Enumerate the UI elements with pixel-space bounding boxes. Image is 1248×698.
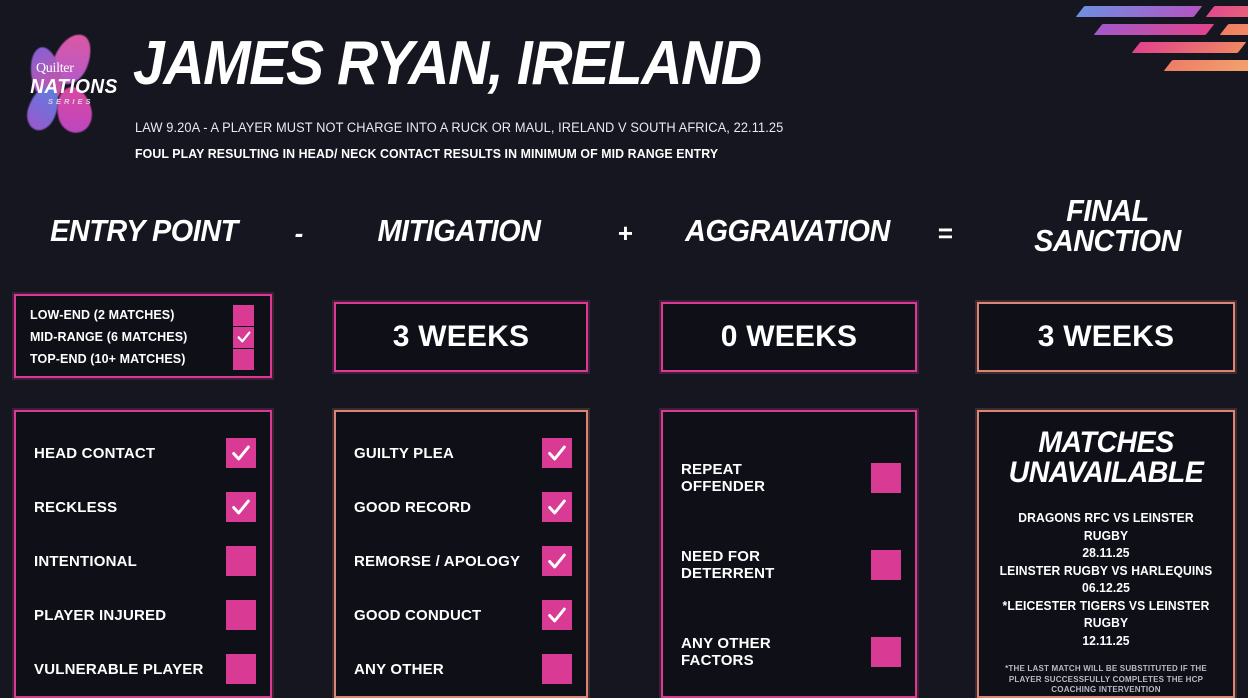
mitigation-factor-row-good-record[interactable]: GOOD RECORD — [354, 480, 572, 534]
final-sanction-weeks-value: 3 WEEKS — [979, 304, 1233, 370]
stripe-7 — [1132, 42, 1247, 53]
quilter-nations-series-logo: Quilter NATIONS SERIES — [25, 33, 107, 133]
entry-factor-row-player-injured[interactable]: PLAYER INJURED — [34, 588, 256, 642]
mitigation-factor-label-guilty-plea: GUILTY PLEA — [354, 445, 454, 462]
match-date: 06.12.25 — [996, 580, 1215, 598]
check-icon — [230, 496, 252, 518]
aggravation-weeks-panel: 0 WEEKS — [661, 302, 917, 372]
mitigation-factors-panel: GUILTY PLEA GOOD RECORD REMORSE / APOLOG… — [334, 410, 588, 698]
entry-factor-label-reckless: RECKLESS — [34, 499, 117, 516]
aggravation-weeks-value: 0 WEEKS — [663, 304, 915, 370]
unavailable-matches-list: DRAGONS RFC VS LEINSTER RUGBY 28.11.25 L… — [993, 510, 1219, 650]
entry-level-label-low: LOW-END (2 MATCHES) — [30, 308, 174, 322]
match-line: DRAGONS RFC VS LEINSTER RUGBY — [996, 510, 1215, 545]
mitigation-factor-checkbox-remorse-apology[interactable] — [542, 546, 572, 576]
entry-point-factors-panel: HEAD CONTACT RECKLESS INTENTIONAL PLAYER… — [14, 410, 272, 698]
aggravation-factors-panel: REPEAT OFFENDER NEED FOR DETERRENT ANY O… — [661, 410, 917, 698]
match-line: LEINSTER RUGBY VS HARLEQUINS — [996, 563, 1215, 581]
operator-equals: = — [920, 218, 970, 249]
stripe-3 — [1076, 6, 1203, 17]
aggravation-factor-checkbox-repeat-offender[interactable] — [871, 463, 901, 493]
match-date: 12.11.25 — [996, 633, 1215, 651]
mitigation-factor-row-any-other[interactable]: ANY OTHER — [354, 642, 572, 696]
aggravation-factor-label-repeat-offender: REPEAT OFFENDER — [681, 461, 765, 495]
mitigation-factor-row-remorse-apology[interactable]: REMORSE / APOLOGY — [354, 534, 572, 588]
aggravation-factor-label-any-other-factors: ANY OTHER FACTORS — [681, 635, 771, 669]
substitution-footnote: *THE LAST MATCH WILL BE SUBSTITUTED IF T… — [993, 664, 1219, 696]
check-icon — [230, 442, 252, 464]
entry-factor-label-vulnerable-player: VULNERABLE PLAYER — [34, 661, 204, 678]
match-line: *LEICESTER TIGERS VS LEINSTER RUGBY — [996, 598, 1215, 633]
aggravation-factor-list: REPEAT OFFENDER NEED FOR DETERRENT ANY O… — [663, 412, 915, 696]
check-icon — [546, 550, 568, 572]
entry-level-label-mid: MID-RANGE (6 MATCHES) — [30, 330, 187, 344]
aggravation-factor-label-need-for-deterrent: NEED FOR DETERRENT — [681, 548, 774, 582]
check-icon — [546, 604, 568, 626]
check-icon — [546, 442, 568, 464]
mitigation-factor-checkbox-good-conduct[interactable] — [542, 600, 572, 630]
mitigation-factor-label-remorse-apology: REMORSE / APOLOGY — [354, 553, 520, 570]
aggravation-factor-row-repeat-offender[interactable]: REPEAT OFFENDER — [681, 434, 901, 521]
operator-plus: + — [600, 218, 650, 249]
mitigation-factor-row-guilty-plea[interactable]: GUILTY PLEA — [354, 426, 572, 480]
entry-factor-row-vulnerable-player[interactable]: VULNERABLE PLAYER — [34, 642, 256, 696]
entry-level-checkbox-low[interactable] — [233, 305, 254, 326]
entry-factor-label-intentional: INTENTIONAL — [34, 553, 137, 570]
column-header-mitigation: MITIGATION — [343, 215, 576, 246]
mitigation-factor-label-good-conduct: GOOD CONDUCT — [354, 607, 481, 624]
mitigation-factor-checkbox-good-record[interactable] — [542, 492, 572, 522]
stripe-5 — [1094, 24, 1215, 35]
entry-factor-checkbox-vulnerable-player[interactable] — [226, 654, 256, 684]
entry-factor-row-reckless[interactable]: RECKLESS — [34, 480, 256, 534]
mitigation-factor-label-any-other: ANY OTHER — [354, 661, 444, 678]
mitigation-weeks-value: 3 WEEKS — [336, 304, 586, 370]
column-header-entry-point: ENTRY POINT — [23, 215, 265, 246]
logo-brand-text: Quilter — [36, 61, 74, 77]
entry-factor-checkbox-head-contact[interactable] — [226, 438, 256, 468]
mitigation-factor-row-good-conduct[interactable]: GOOD CONDUCT — [354, 588, 572, 642]
final-sanction-weeks-panel: 3 WEEKS — [977, 302, 1235, 372]
stripe-9 — [1164, 60, 1248, 71]
entry-factor-label-player-injured: PLAYER INJURED — [34, 607, 166, 624]
law-reference: LAW 9.20A - A PLAYER MUST NOT CHARGE INT… — [135, 120, 783, 135]
check-icon — [236, 329, 252, 345]
aggravation-factor-row-any-other-factors[interactable]: ANY OTHER FACTORS — [681, 609, 901, 696]
mitigation-factor-list: GUILTY PLEA GOOD RECORD REMORSE / APOLOG… — [336, 412, 586, 696]
entry-level-checkbox-mid[interactable] — [233, 327, 254, 348]
entry-level-row-mid[interactable]: MID-RANGE (6 MATCHES) — [30, 326, 262, 348]
stripe-6 — [1220, 24, 1248, 35]
column-header-aggravation: AGGRAVATION — [669, 215, 906, 246]
final-sanction-body: MATCHES UNAVAILABLE DRAGONS RFC VS LEINS… — [979, 412, 1233, 696]
aggravation-factor-checkbox-any-other-factors[interactable] — [871, 637, 901, 667]
entry-point-factor-list: HEAD CONTACT RECKLESS INTENTIONAL PLAYER… — [16, 412, 270, 696]
stripe-4 — [1206, 6, 1248, 17]
logo-series-text: SERIES — [48, 97, 94, 106]
entry-point-levels-panel: LOW-END (2 MATCHES) MID-RANGE (6 MATCHES… — [14, 294, 272, 378]
entry-note: FOUL PLAY RESULTING IN HEAD/ NECK CONTAC… — [135, 146, 718, 161]
corner-stripes-decoration — [1018, 0, 1248, 91]
sanction-graphic: Quilter NATIONS SERIES JAMES RYAN, IRELA… — [0, 0, 1248, 698]
entry-level-row-low[interactable]: LOW-END (2 MATCHES) — [30, 304, 262, 326]
column-header-final-sanction: FINAL SANCTION — [984, 196, 1230, 256]
page-title: JAMES RYAN, IRELAND — [133, 33, 761, 95]
operator-minus: - — [274, 218, 324, 249]
logo-nations-text: NATIONS — [30, 76, 117, 99]
final-sanction-detail-panel: MATCHES UNAVAILABLE DRAGONS RFC VS LEINS… — [977, 410, 1235, 698]
entry-factor-checkbox-intentional[interactable] — [226, 546, 256, 576]
entry-point-levels-list: LOW-END (2 MATCHES) MID-RANGE (6 MATCHES… — [30, 304, 262, 370]
aggravation-factor-checkbox-need-for-deterrent[interactable] — [871, 550, 901, 580]
mitigation-weeks-panel: 3 WEEKS — [334, 302, 588, 372]
entry-level-checkbox-top[interactable] — [233, 349, 254, 370]
entry-level-label-top: TOP-END (10+ MATCHES) — [30, 352, 185, 366]
entry-factor-row-intentional[interactable]: INTENTIONAL — [34, 534, 256, 588]
mitigation-factor-label-good-record: GOOD RECORD — [354, 499, 471, 516]
matches-unavailable-title: MATCHES UNAVAILABLE — [999, 428, 1214, 488]
entry-factor-checkbox-reckless[interactable] — [226, 492, 256, 522]
mitigation-factor-checkbox-guilty-plea[interactable] — [542, 438, 572, 468]
mitigation-factor-checkbox-any-other[interactable] — [542, 654, 572, 684]
check-icon — [546, 496, 568, 518]
aggravation-factor-row-need-for-deterrent[interactable]: NEED FOR DETERRENT — [681, 521, 901, 608]
entry-factor-checkbox-player-injured[interactable] — [226, 600, 256, 630]
entry-factor-label-head-contact: HEAD CONTACT — [34, 445, 155, 462]
entry-factor-row-head-contact[interactable]: HEAD CONTACT — [34, 426, 256, 480]
entry-level-row-top[interactable]: TOP-END (10+ MATCHES) — [30, 348, 262, 370]
match-date: 28.11.25 — [996, 545, 1215, 563]
